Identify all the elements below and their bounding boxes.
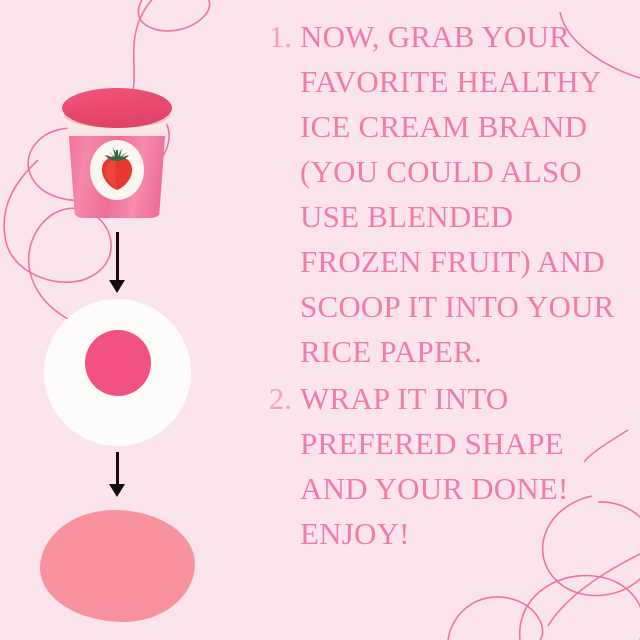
arrow-down-2-head	[109, 484, 125, 497]
step-1-marker: 1.	[258, 14, 292, 59]
step-1-text: NOW, GRAB YOUR FAVORITE HEALTHY ICE CREA…	[300, 14, 636, 374]
step-2-text: WRAP IT INTO PREFERED SHAPE AND YOUR DON…	[300, 376, 636, 556]
squiggle-bottom-right-d	[448, 597, 543, 640]
squiggle-bottom-right-b	[548, 554, 640, 626]
wrapped-blob	[40, 510, 195, 622]
arrow-down-1-shaft	[116, 232, 119, 282]
step-item-1: 1. NOW, GRAB YOUR FAVORITE HEALTHY ICE C…	[258, 14, 636, 374]
squiggle-bottom-right-c	[520, 576, 640, 640]
arrow-down-2-shaft	[116, 452, 119, 486]
arrow-down-1-head	[109, 280, 125, 293]
recipe-step-poster: 1. NOW, GRAB YOUR FAVORITE HEALTHY ICE C…	[0, 0, 640, 640]
step-item-2: 2. WRAP IT INTO PREFERED SHAPE AND YOUR …	[258, 376, 636, 556]
ice-cream-scoop	[85, 330, 151, 396]
instructions-panel: 1. NOW, GRAB YOUR FAVORITE HEALTHY ICE C…	[258, 14, 636, 558]
strawberry-icon	[98, 148, 136, 192]
steps-list: 1. NOW, GRAB YOUR FAVORITE HEALTHY ICE C…	[258, 14, 636, 556]
ice-cream-tub	[62, 88, 172, 220]
tub-lid-shadow	[64, 102, 170, 128]
illustration-column	[0, 0, 240, 640]
step-2-marker: 2.	[258, 376, 292, 421]
